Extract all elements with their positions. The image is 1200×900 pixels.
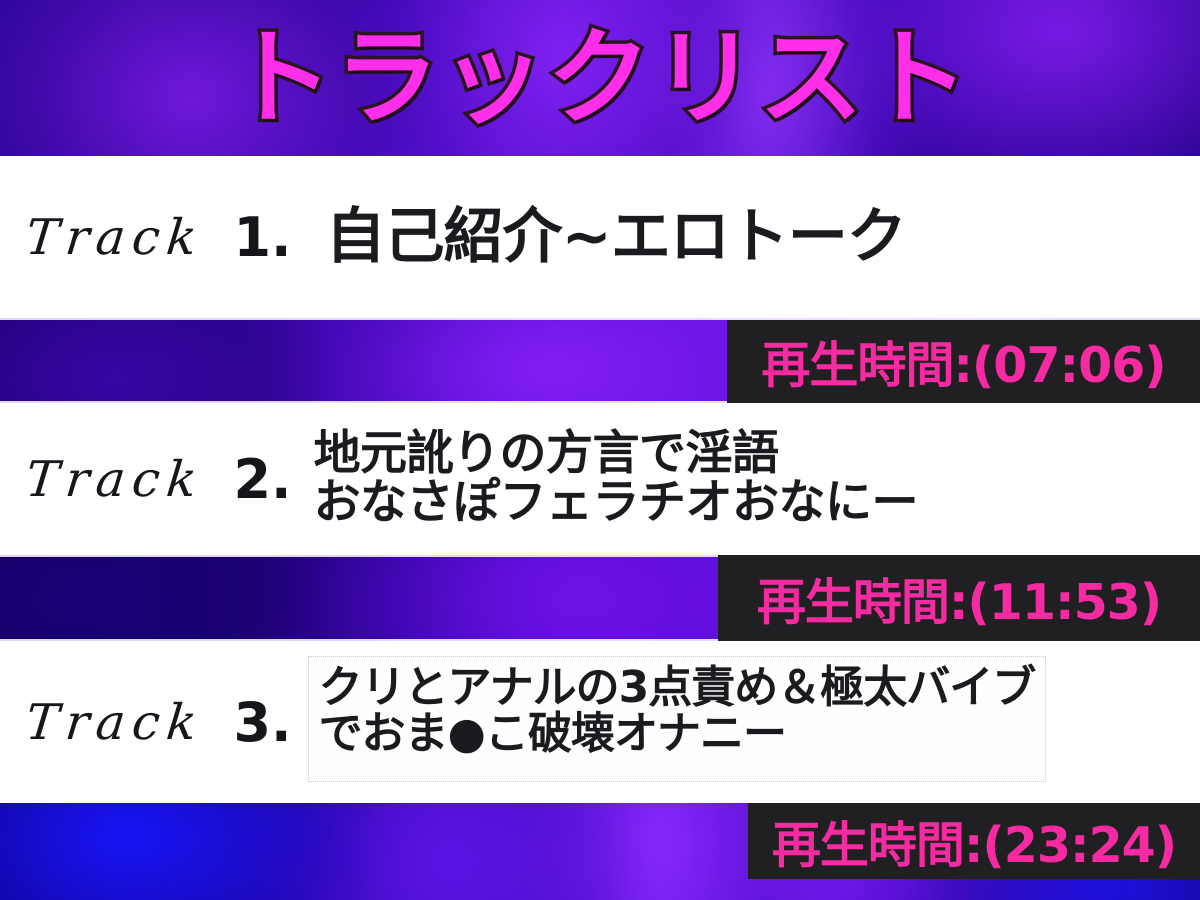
track-number: 2. [233,448,291,511]
track-list-page: トラックリスト Track 1. 自己紹介~エロトーク 再生時間:(07:06)… [0,0,1200,900]
track-title: クリとアナルの3点責め＆極太バイブ でおま●こ破壊オナニー [308,656,1047,782]
duration-badge: 再生時間:(23:24) [748,803,1200,879]
track-label: Track [23,209,206,266]
track-row: Track 3. クリとアナルの3点責め＆極太バイブ でおま●こ破壊オナニー [0,641,1200,803]
page-title: トラックリスト [0,0,1200,156]
track-number: 1. [233,206,291,269]
duration-text: 再生時間:(23:24) [772,806,1176,877]
track-label: Track [23,694,206,751]
track-label: Track [23,451,206,508]
page-title-text: トラックリスト [229,26,971,130]
duration-badge: 再生時間:(11:53) [718,555,1200,641]
track-row: Track 1. 自己紹介~エロトーク [0,156,1200,318]
duration-text: 再生時間:(11:53) [757,563,1161,634]
track-number: 3. [233,691,291,754]
duration-badge: 再生時間:(07:06) [727,320,1200,403]
duration-text: 再生時間:(07:06) [761,326,1165,397]
track-title: 自己紹介~エロトーク [326,206,906,268]
track-row: Track 2. 地元訛りの方言で淫語 おなさぽフェラチオおなにー [0,403,1200,555]
track-title: 地元訛りの方言で淫語 おなさぽフェラチオおなにー [314,430,919,528]
